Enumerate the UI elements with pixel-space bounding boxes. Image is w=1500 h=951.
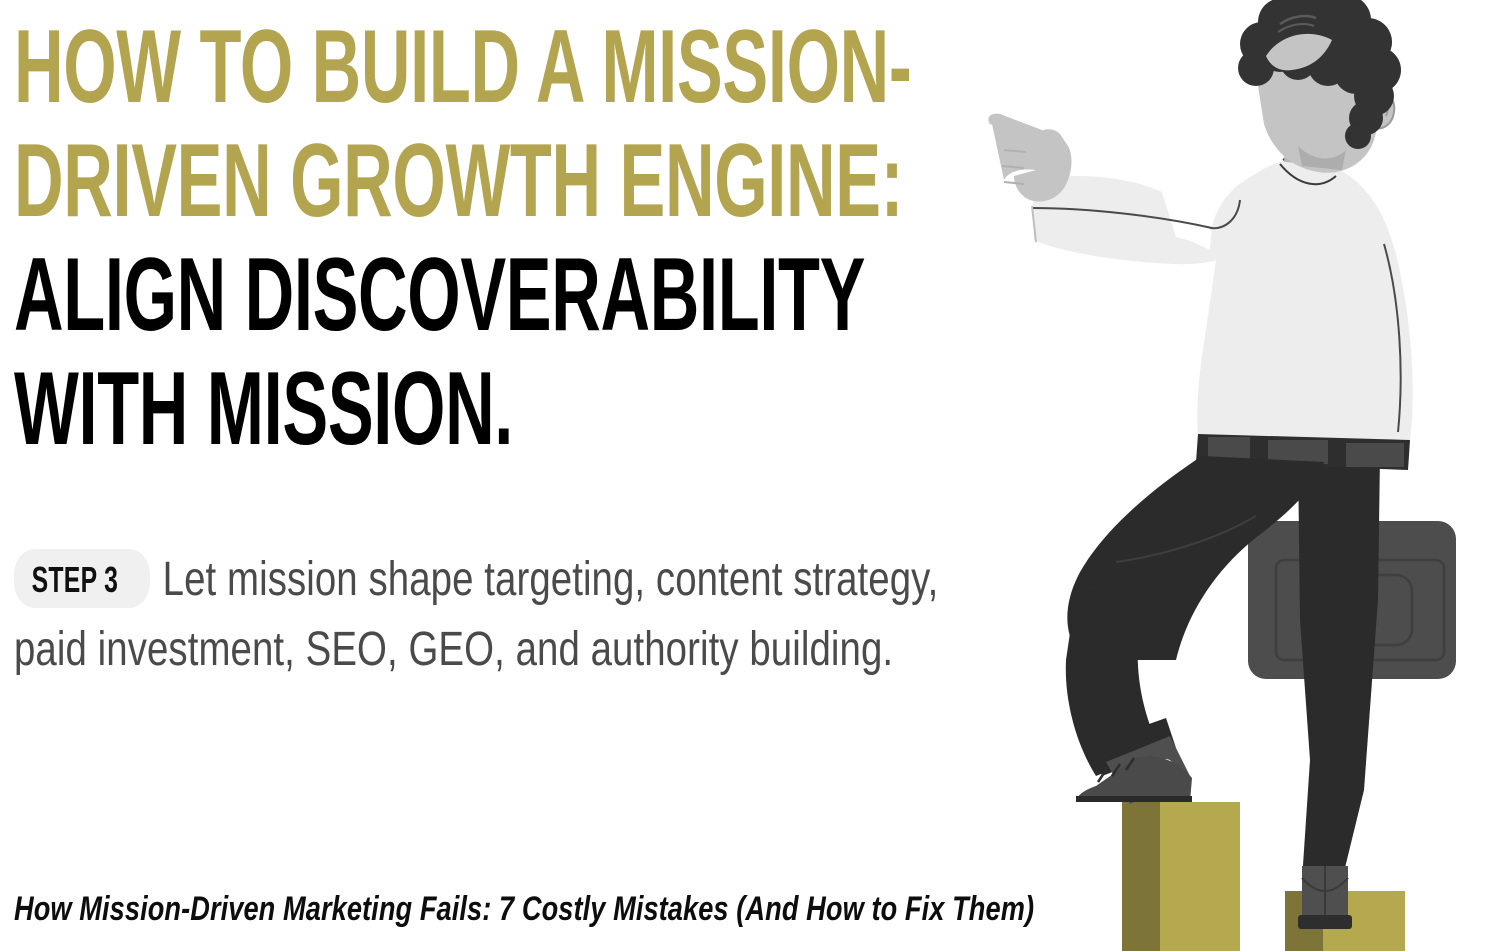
headline-line-4: WITH MISSION. <box>14 352 648 466</box>
headline-line-3: ALIGN DISCOVERABILITY <box>14 238 648 352</box>
headline-line-2: DRIVEN GROWTH ENGINE: <box>14 124 648 238</box>
step-badge-label: STEP 3 <box>32 558 119 602</box>
step-description-block: STEP 3Let mission shape targeting, conte… <box>14 545 954 685</box>
step-description-text: Let mission shape targeting, content str… <box>14 553 938 676</box>
headline-block: HOW TO BUILD A MISSION- DRIVEN GROWTH EN… <box>14 10 974 466</box>
businessman-pointing-illustration <box>980 0 1500 951</box>
pointing-arm <box>988 114 1276 265</box>
head <box>1238 0 1401 173</box>
slide-canvas: HOW TO BUILD A MISSION- DRIVEN GROWTH EN… <box>0 0 1500 951</box>
rear-leg <box>1298 455 1380 929</box>
step-block-tall <box>1122 802 1240 951</box>
step-badge: STEP 3 <box>14 549 150 608</box>
text-column: HOW TO BUILD A MISSION- DRIVEN GROWTH EN… <box>0 0 1000 951</box>
torso-shirt <box>1197 148 1412 440</box>
footer-title: How Mission-Driven Marketing Fails: 7 Co… <box>14 889 1034 929</box>
headline-line-1: HOW TO BUILD A MISSION- <box>14 10 648 124</box>
footer-block: How Mission-Driven Marketing Fails: 7 Co… <box>14 889 1114 929</box>
step-paragraph: STEP 3Let mission shape targeting, conte… <box>14 545 954 685</box>
